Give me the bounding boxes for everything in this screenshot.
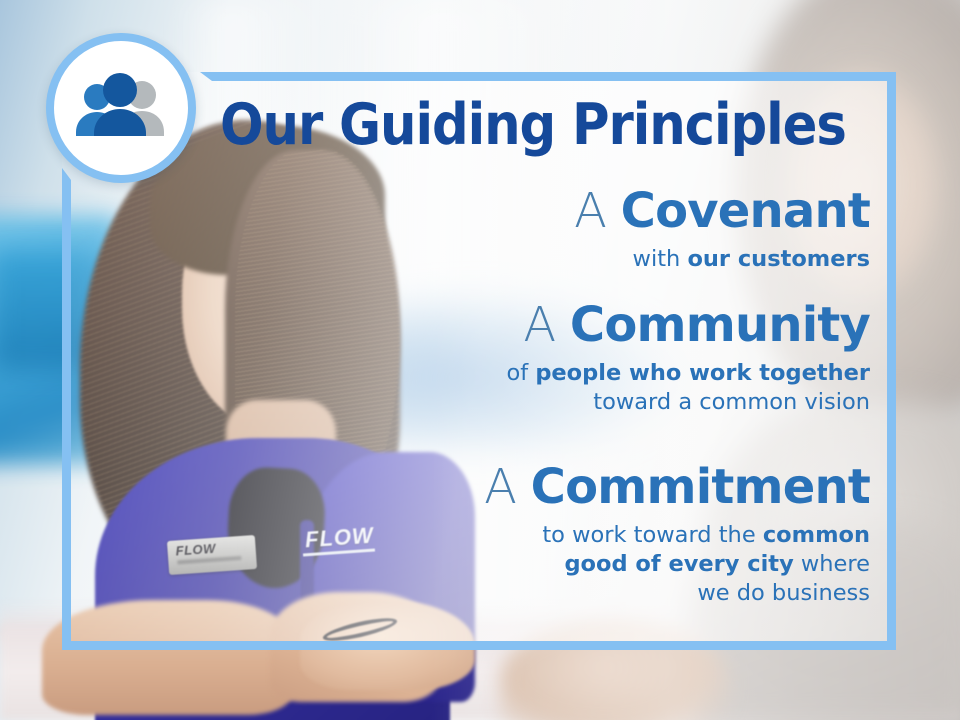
name-badge-brand-text: FLOW bbox=[175, 542, 216, 558]
principle-covenant: A Covenant with our customers bbox=[574, 186, 870, 274]
frame-border-top bbox=[212, 72, 896, 81]
employee-left-arm bbox=[42, 600, 292, 715]
page-title: Our Guiding Principles bbox=[220, 96, 814, 154]
people-badge bbox=[46, 33, 196, 183]
frame-border-bottom bbox=[62, 641, 896, 650]
principle-community-keyword: Community bbox=[570, 297, 870, 353]
principle-covenant-subtext: with our customers bbox=[574, 245, 870, 274]
principle-community-article: A bbox=[523, 297, 555, 353]
principle-commitment-lead: A Commitment bbox=[484, 462, 870, 513]
principle-commitment-subtext: to work toward the commongood of every c… bbox=[484, 521, 870, 609]
group-of-people-icon bbox=[69, 72, 173, 144]
principle-community: A Community of people who work togethert… bbox=[506, 300, 870, 417]
principle-commitment: A Commitment to work toward the commongo… bbox=[484, 462, 870, 609]
principle-commitment-article: A bbox=[484, 459, 516, 515]
polo-brand-logo: FLOW bbox=[304, 525, 374, 552]
frame-border-left bbox=[62, 180, 71, 650]
principle-community-lead: A Community bbox=[506, 300, 870, 351]
principle-covenant-article: A bbox=[574, 183, 606, 239]
frame-border-right bbox=[887, 72, 896, 650]
principle-covenant-lead: A Covenant bbox=[574, 186, 870, 237]
principle-commitment-keyword: Commitment bbox=[531, 459, 870, 515]
principle-covenant-keyword: Covenant bbox=[621, 183, 870, 239]
poster-canvas: FLOW FLOW Our Guiding Principles bbox=[0, 0, 960, 720]
employee-name-badge: FLOW bbox=[167, 535, 257, 575]
principle-community-subtext: of people who work togethertoward a comm… bbox=[506, 359, 870, 418]
